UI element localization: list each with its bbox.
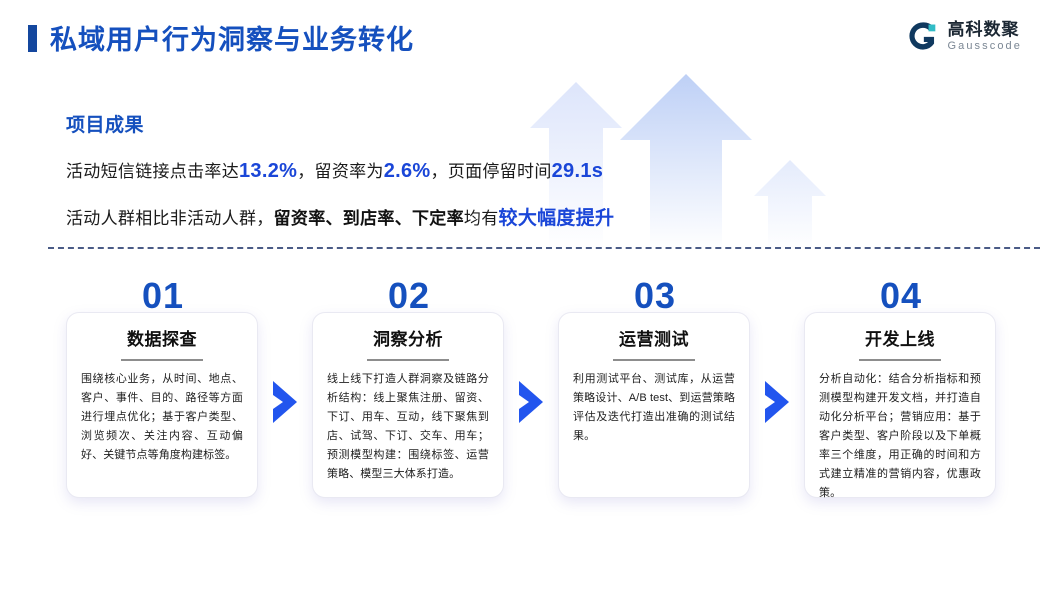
results-line2-emphasis: 较大幅度提升 <box>499 208 615 229</box>
chevron-right-icon <box>270 380 300 424</box>
step-card-2[interactable]: 02 洞察分析 线上线下打造人群洞察及链路分析结构：线上聚焦注册、留资、下订、用… <box>312 312 504 498</box>
logo-name-cn: 高科数聚 <box>947 21 1022 38</box>
results-line-2: 活动人群相比非活动人群，留资率、到店率、下定率均有较大幅度提升 <box>66 203 966 230</box>
step-body-3: 利用测试平台、测试库，从运营策略设计、A/B test、到运营策略评估及迭代打造… <box>573 370 735 446</box>
step-body-4: 分析自动化：结合分析指标和预测模型构建开发文档，并打造自动化分析平台；营销应用：… <box>819 370 981 503</box>
process-steps: 01 数据探查 围绕核心业务，从时间、地点、客户、事件、目的、路径等方面进行埋点… <box>0 268 1048 518</box>
metric-lead-rate: 2.6% <box>384 160 431 182</box>
results-heading: 项目成果 <box>66 110 966 137</box>
gausscode-logo-icon <box>906 19 940 53</box>
step-rule-4 <box>859 359 941 361</box>
project-results-section: 项目成果 活动短信链接点击率达13.2%，留资率为2.6%，页面停留时间29.1… <box>66 110 966 250</box>
metric-click-rate: 13.2% <box>239 160 297 182</box>
step-number-4: 04 <box>805 275 997 317</box>
results-line1-seg2: ，留资率为 <box>297 162 384 181</box>
results-line-1: 活动短信链接点击率达13.2%，留资率为2.6%，页面停留时间29.1s <box>66 157 966 183</box>
step-number-1: 01 <box>67 275 259 317</box>
results-line2-seg1: 活动人群相比非活动人群， <box>66 209 274 228</box>
step-rule-1 <box>121 359 203 361</box>
step-card-4[interactable]: 04 开发上线 分析自动化：结合分析指标和预测模型构建开发文档，并打造自动化分析… <box>804 312 996 498</box>
step-body-1: 围绕核心业务，从时间、地点、客户、事件、目的、路径等方面进行埋点优化；基于客户类… <box>81 370 243 465</box>
step-rule-3 <box>613 359 695 361</box>
title-accent-bar <box>28 25 37 52</box>
logo-name-en: Gausscode <box>947 41 1022 52</box>
step-title-3: 运营测试 <box>559 325 749 350</box>
step-number-2: 02 <box>313 275 505 317</box>
section-divider <box>48 247 1040 249</box>
results-line2-metrics: 留资率、到店率、下定率 <box>274 209 464 228</box>
results-line1-seg1: 活动短信链接点击率达 <box>66 162 239 181</box>
results-line2-seg2: 均有 <box>464 209 499 228</box>
page-title: 私域用户行为洞察与业务转化 <box>50 18 414 57</box>
metric-dwell-time: 29.1s <box>552 160 604 182</box>
step-title-1: 数据探查 <box>67 325 257 350</box>
step-card-1[interactable]: 01 数据探查 围绕核心业务，从时间、地点、客户、事件、目的、路径等方面进行埋点… <box>66 312 258 498</box>
step-number-3: 03 <box>559 275 751 317</box>
step-title-2: 洞察分析 <box>313 325 503 350</box>
slide-header: 私域用户行为洞察与业务转化 高科数聚 Gausscode <box>0 0 1048 86</box>
step-card-3[interactable]: 03 运营测试 利用测试平台、测试库，从运营策略设计、A/B test、到运营策… <box>558 312 750 498</box>
chevron-right-icon <box>762 380 792 424</box>
brand-logo: 高科数聚 Gausscode <box>906 19 1022 53</box>
results-line1-seg3: ，页面停留时间 <box>431 162 552 181</box>
step-title-4: 开发上线 <box>805 325 995 350</box>
step-body-2: 线上线下打造人群洞察及链路分析结构：线上聚焦注册、留资、下订、用车、互动，线下聚… <box>327 370 489 484</box>
chevron-right-icon <box>516 380 546 424</box>
logo-text: 高科数聚 Gausscode <box>947 21 1022 52</box>
step-rule-2 <box>367 359 449 361</box>
